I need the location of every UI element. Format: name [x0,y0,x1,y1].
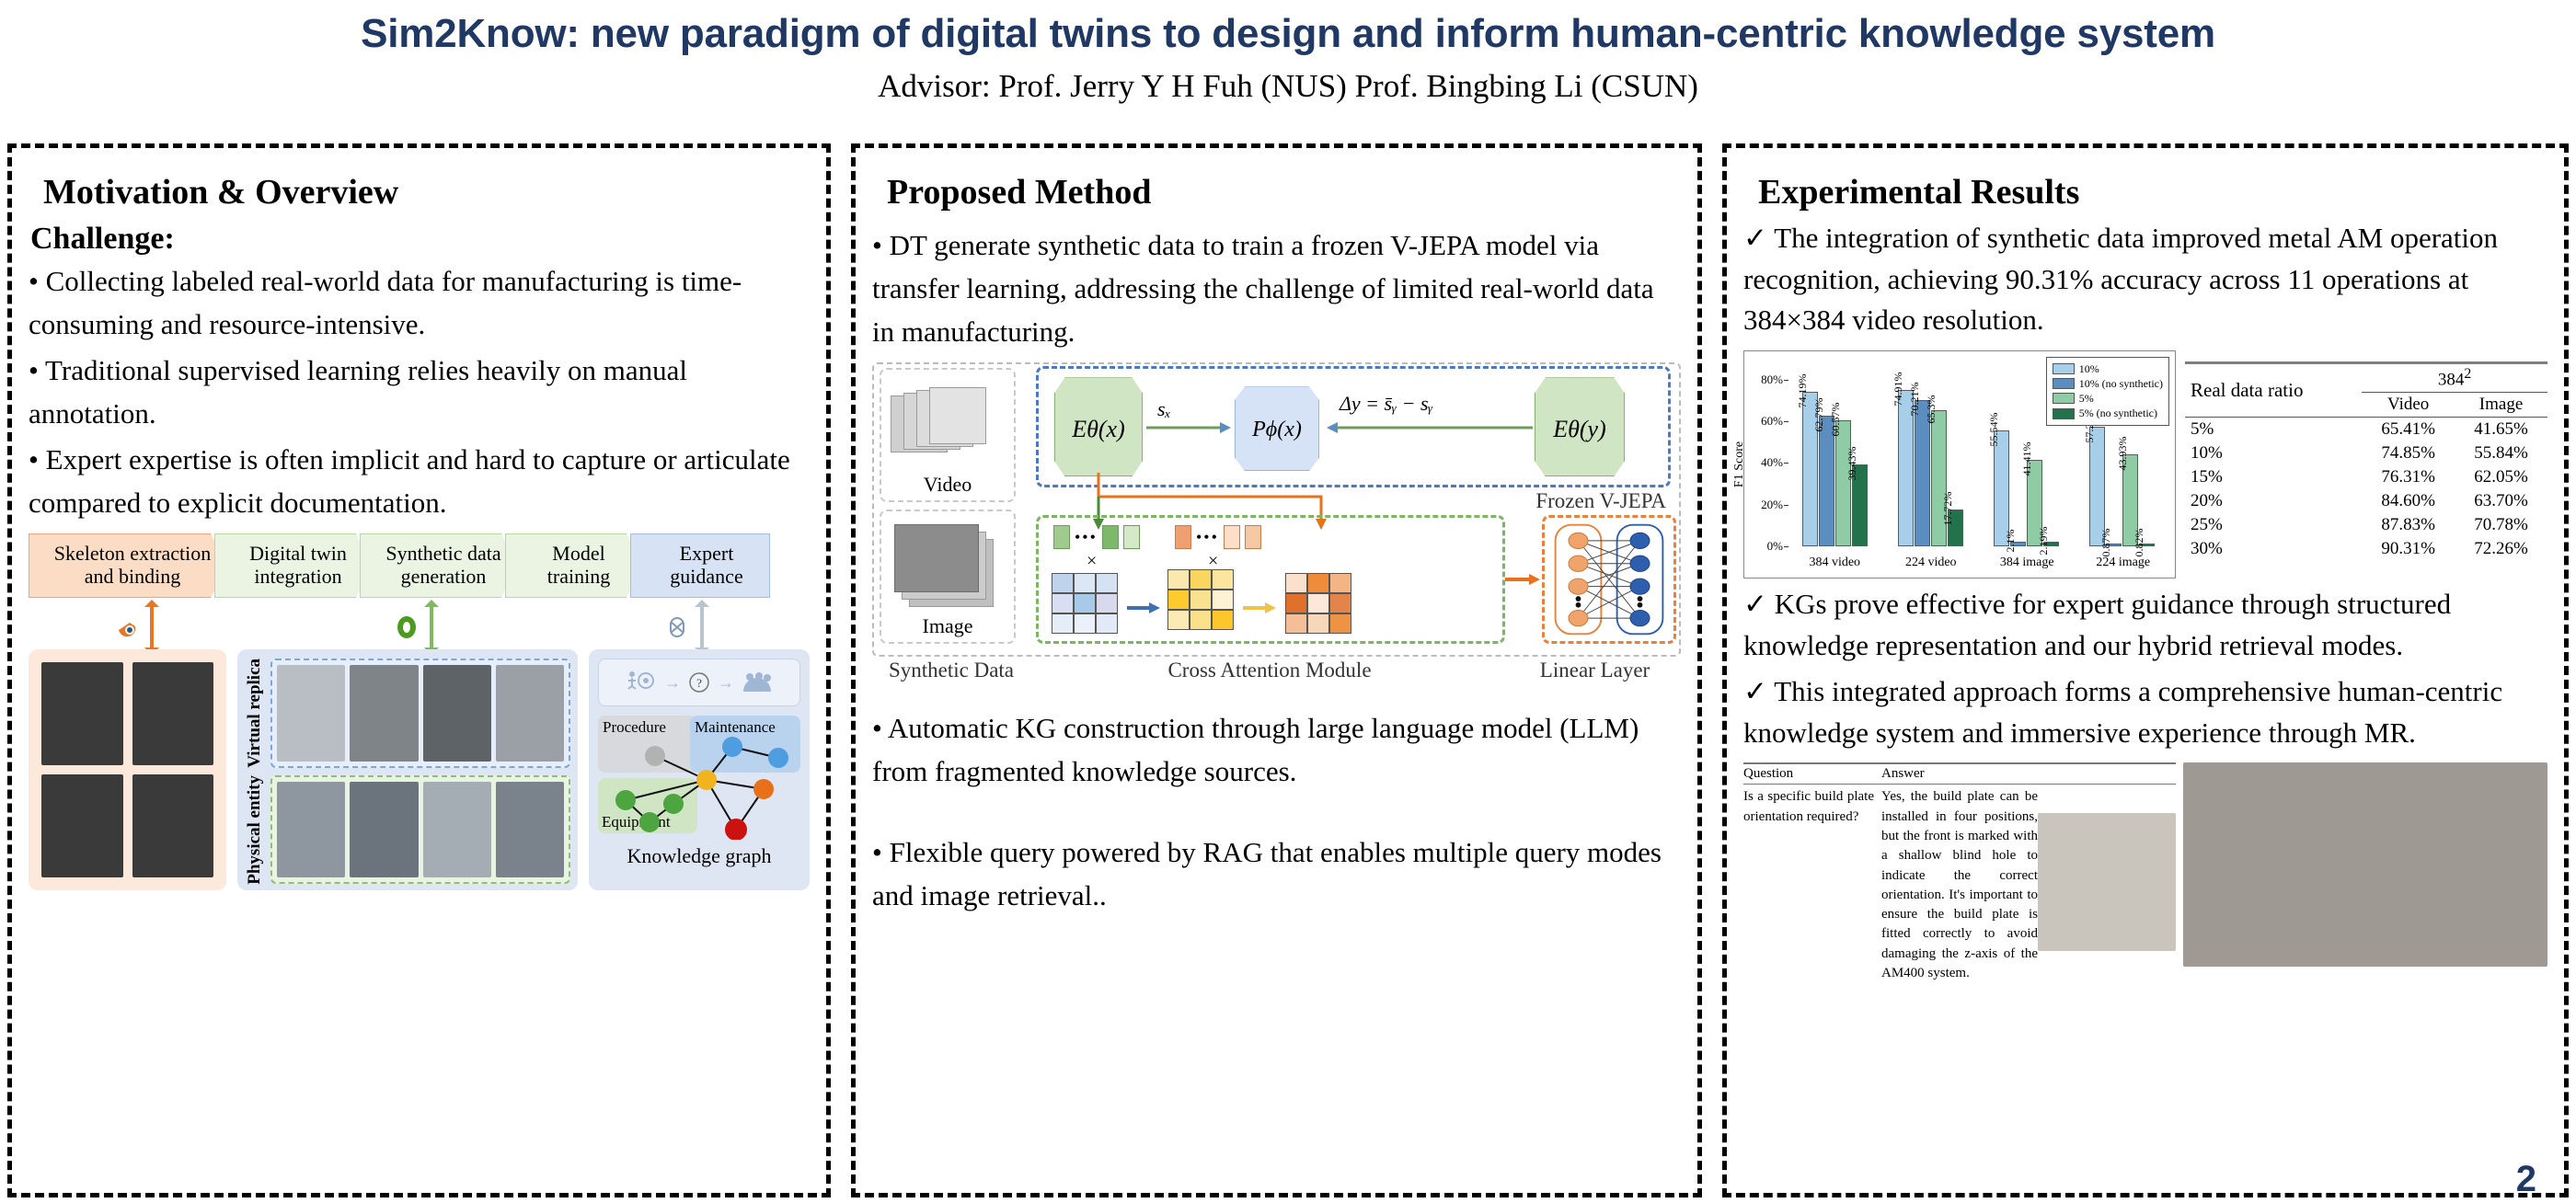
flow-step-synthetic-data: Synthetic data generation [360,533,518,598]
qa-header: Question Answer [1743,762,2176,785]
mr-headset-photo [2183,762,2547,967]
blue-matrix [1052,573,1118,634]
table-row: 15%76.31%62.05% [2185,465,2547,489]
image-box: Image [880,510,1016,644]
video-box: Video [880,368,1016,502]
chart-bar-label: 70.21% [1908,382,1922,416]
chart-legend-item: 10% (no synthetic) [2053,376,2163,391]
check-icon-3: ✓ [1743,675,1767,707]
chart-bar-group: 74.19%62.79%60.57%39.43% [1787,359,1882,546]
physical-entity-images [270,775,570,885]
bullet-dt-synthetic: • DT generate synthetic data to train a … [872,223,1681,353]
table-row: 25%87.83%70.78% [2185,513,2547,537]
chart-bar: 65.3% [1931,410,1947,546]
table-cell-image: 63.70% [2455,489,2547,513]
bullet-flexible-query: • Flexible query powered by RAG that ena… [872,831,1681,917]
chart-legend-item: 5% [2053,391,2163,406]
orange-matrix [1285,573,1351,634]
people-group-icon [742,670,773,695]
caption-synthetic-data: Synthetic Data [872,659,1030,682]
arrow-blue-to-yellow [1127,602,1160,613]
flow-step-skeleton: Skeleton extraction and binding [29,533,227,598]
blender-icon-cell [113,600,159,655]
table-cell-ratio: 30% [2185,537,2362,561]
chart-bar-label: 60.57% [1829,402,1843,436]
chart-bar-group: 74.91%70.21%65.3%17.72% [1882,359,1978,546]
virtual-image-2 [350,665,418,762]
skeleton-image-grid [29,649,226,890]
check-text-1: The integration of synthetic data improv… [1743,222,2498,336]
green-token-row: ••• [1053,525,1140,549]
table-cell-video: 90.31% [2362,537,2455,561]
svg-text:?: ? [696,676,702,690]
chart-bar: 0.87% [2106,544,2122,545]
orange-arrow [144,600,159,655]
qa-header-answer: Answer [1881,766,1925,782]
page-title: Sim2Know: new paradigm of digital twins … [0,0,2576,57]
chart-bar: 39.43% [1852,464,1868,546]
chart-y-tick: 80% [1746,372,1783,387]
advisor-line: Advisor: Prof. Jerry Y H Fuh (NUS) Prof.… [0,57,2576,105]
bullet-kg-construction: • Automatic KG construction through larg… [872,706,1681,793]
f1-score-chart: F1 Score 0%20%40%60%80% 74.19%62.79%60.5… [1743,350,2176,579]
chart-bar-label: 43.93% [2116,437,2130,471]
chart-bar-label: 0.82% [2133,529,2146,557]
process-flow: Skeleton extraction and binding Digital … [29,533,810,598]
physical-entity-label: Physical entity [245,775,265,885]
chart-legend-item: 10% [2053,361,2163,376]
caption-cross-attention: Cross Attention Module [1030,659,1509,682]
table-cell-video: 65.41% [2362,418,2455,442]
table-cell-ratio: 25% [2185,513,2362,537]
table-spanner-384: 3842 [2362,362,2547,392]
chart-bar: 0.82% [2139,544,2155,545]
chart-bar: 2.1% [2010,542,2026,546]
video-frames [891,384,1005,464]
video-label: Video [881,473,1014,497]
table-cell-ratio: 15% [2185,465,2362,489]
arrow-yellow-to-orange [1243,602,1276,613]
chart-legend-label: 5% (no synthetic) [2079,406,2157,420]
physical-entity-row: Physical entity [245,775,570,885]
arrow-y-to-p [1325,421,1533,434]
skeleton-tpose-image [132,774,214,877]
chart-y-tick: 0% [1746,539,1783,554]
image-label: Image [881,614,1014,638]
chart-legend-swatch [2053,378,2075,389]
arrow-right-icon-2: → [718,673,734,693]
table-cell-image: 72.26% [2455,537,2547,561]
skeleton-avatar-image [132,662,214,765]
delta-y-label: Δy = s̄ᵧ − sᵧ [1340,392,1433,416]
worker-gear-icon [626,669,657,696]
chart-x-label: 384 video [1787,556,1883,570]
table-header-video: Video [2362,393,2455,418]
f1-chart-wrapper: F1 Score 0%20%40%60%80% 74.19%62.79%60.5… [1743,350,2176,579]
chart-legend-label: 5% [2079,391,2094,406]
chart-legend-label: 10% [2079,361,2099,376]
column-motivation: Motivation & Overview Challenge: • Colle… [7,143,831,1197]
chart-bar: 2.19% [2043,542,2059,546]
predictor-label: Pϕ(x) [1235,418,1319,442]
chart-bar-label: 74.19% [1796,373,1810,407]
arrow-to-linear [1505,574,1540,585]
orange-token-row: ••• [1175,525,1261,549]
sx-label: sₓ [1157,397,1171,421]
chart-bar-label: 2.19% [2037,526,2051,555]
chart-legend-swatch [2053,363,2075,374]
physical-image-1 [277,782,345,878]
table-cell-video: 87.83% [2362,513,2455,537]
blender-icon [113,613,141,641]
chart-legend: 10%10% (no synthetic)5%5% (no synthetic) [2046,357,2169,426]
build-plate-photo [2038,813,2176,951]
method-diagram: Video Eθ(x) sₓ Pϕ(x) Δy = s̄ᵧ − sᵧ [872,362,1681,657]
table-spanner-row: Real data ratio 3842 [2185,362,2547,392]
table-cell-video: 74.85% [2362,441,2455,465]
table-header-ratio: Real data ratio [2185,362,2362,417]
linear-layer-graph [1545,518,1673,641]
qa-body: Is a specific build plate orientation re… [1743,785,2176,983]
results-table: Real data ratio 3842 Video Image 5%65.41… [2185,361,2547,561]
virtual-replica-images [270,659,570,768]
check-item-1: ✓ The integration of synthetic data impr… [1743,218,2547,341]
linear-layer-box [1542,515,1676,644]
yellow-matrix [1167,569,1234,630]
arrow-x-to-p [1146,421,1231,434]
table-row: 10%74.85%55.84% [2185,441,2547,465]
chart-y-tick: 60% [1746,414,1783,429]
check-text-3: This integrated approach forms a compreh… [1743,675,2502,749]
qa-answer-text: Yes, the build plate can be installed in… [1881,787,2038,983]
table-row: 20%84.60%63.70% [2185,489,2547,513]
chart-legend-item: 5% (no synthetic) [2053,406,2163,420]
results-row: F1 Score 0%20%40%60%80% 74.19%62.79%60.5… [1743,350,2547,579]
unity-ring-icon [393,613,420,641]
chart-x-label: 384 image [1979,556,2076,570]
check-text-2: KGs prove effective for expert guidance … [1743,588,2451,661]
chart-y-tick: 40% [1746,455,1783,470]
frozen-vjepa-label: Frozen V-JEPA [1535,489,1666,513]
virtual-replica-row: Virtual replica [245,659,570,768]
encoder-y-label: Eθ(y) [1535,416,1625,443]
kg-edges [598,716,800,840]
chart-bar-label: 65.3% [1925,395,1938,423]
chart-y-tick: 20% [1746,498,1783,512]
check-icon-2: ✓ [1743,588,1767,620]
openai-icon-cell [663,600,709,655]
chart-bar-label: 39.43% [1846,446,1859,480]
chart-bar-label: 2.1% [2004,530,2018,553]
page-number: 2 [2516,1159,2536,1200]
openai-icon [663,613,691,641]
qa-and-mr-row: Question Answer Is a specific build plat… [1743,762,2547,974]
kg-pipeline-icons: → ? → [598,659,800,706]
chart-bar: 17.72% [1948,510,1963,546]
table-cell-image: 55.84% [2455,441,2547,465]
image-frames [892,524,1003,609]
diagram-captions: Synthetic Data Cross Attention Module Li… [872,659,1681,682]
table-cell-image: 41.65% [2455,418,2547,442]
columns-container: Motivation & Overview Challenge: • Colle… [7,143,2569,1197]
physical-image-4 [496,782,564,878]
green-arrow [424,600,439,655]
bullet-supervised-learning: • Traditional supervised learning relies… [29,349,810,435]
table-cell-ratio: 10% [2185,441,2362,465]
flow-step-expert-guidance: Expert guidance [630,533,770,598]
chart-bar: 60.57% [1835,420,1851,546]
kg-graph: Procedure Maintenance Equipment [598,716,800,870]
poster-root: Sim2Know: new paradigm of digital twins … [0,0,2576,1203]
flow-step-digital-twin: Digital twin integration [214,533,373,598]
chart-legend-label: 10% (no synthetic) [2079,376,2163,391]
section-heading-method: Proposed Method [887,172,1681,212]
question-circle-icon: ? [688,671,710,693]
flow-icons-row [29,598,810,647]
check-item-2: ✓ KGs prove effective for expert guidanc… [1743,584,2547,666]
check-icon-1: ✓ [1743,222,1767,254]
table-row: 30%90.31%72.26% [2185,537,2547,561]
chart-x-label: 224 image [2076,556,2172,570]
chart-bar-label: 0.87% [2099,529,2113,557]
section-heading-motivation: Motivation & Overview [43,172,810,212]
virtual-image-3 [423,665,491,762]
table-cell-image: 70.78% [2455,513,2547,537]
column-experimental-results: Experimental Results ✓ The integration o… [1722,143,2569,1197]
table-header-image: Image [2455,393,2547,418]
table-cell-video: 76.31% [2362,465,2455,489]
chart-bar-label: 17.72% [1941,491,1955,525]
caption-linear-layer: Linear Layer [1509,659,1681,682]
bullet-expert-expertise: • Expert expertise is often implicit and… [29,439,810,524]
chart-legend-swatch [2053,408,2075,419]
chart-y-axis-label: F1 Score [1732,441,1747,487]
section-heading-results: Experimental Results [1758,172,2547,212]
physical-image-3 [423,782,491,878]
subheading-challenge: Challenge: [30,222,810,257]
virtual-image-1 [277,665,345,762]
table-cell-ratio: 20% [2185,489,2362,513]
chart-legend-swatch [2053,393,2075,404]
virtual-replica-label: Virtual replica [245,659,265,768]
knowledge-graph-panel: → ? → [589,649,810,890]
chart-bar-label: 62.79% [1812,397,1826,431]
column-proposed-method: Proposed Method • DT generate synthetic … [851,143,1702,1197]
overview-panels: Virtual replica Physical entity [29,649,810,890]
unity-ring-icon-cell [393,600,439,655]
table-cell-image: 62.05% [2455,465,2547,489]
skeleton-bones-image [41,774,123,877]
chart-x-label: 224 video [1883,556,1980,570]
times-symbol-1: × [1087,551,1097,572]
table-cell-video: 84.60% [2362,489,2455,513]
chart-bar-label: 41.41% [2020,442,2034,476]
table-cell-ratio: 5% [2185,418,2362,442]
results-table-body: 5%65.41%41.65%10%74.85%55.84%15%76.31%62… [2185,418,2547,562]
qa-question-text: Is a specific build plate orientation re… [1743,787,1881,983]
arrow-right-icon: → [664,673,681,693]
physical-image-2 [350,782,418,878]
table-row: 5%65.41%41.65% [2185,418,2547,442]
qa-table: Question Answer Is a specific build plat… [1743,762,2176,974]
cross-attention-box: ••• ••• × × [1036,515,1505,644]
encoder-x-label: Eθ(x) [1054,416,1143,443]
virtual-image-4 [496,665,564,762]
chart-bar-label: 55.54% [1987,412,2001,446]
bullet-collecting-data: • Collecting labeled real-world data for… [29,260,810,346]
skeleton-panel [29,649,226,890]
check-item-3: ✓ This integrated approach forms a compr… [1743,671,2547,753]
knowledge-graph-caption: Knowledge graph [598,844,800,868]
qa-header-question: Question [1743,766,1881,782]
flow-step-model-training: Model training [505,533,643,598]
chart-bar-label: 74.91% [1892,372,1905,407]
skeleton-rig-image [41,662,123,765]
digital-twin-panel: Virtual replica Physical entity [237,649,578,890]
gray-arrow [695,600,709,655]
